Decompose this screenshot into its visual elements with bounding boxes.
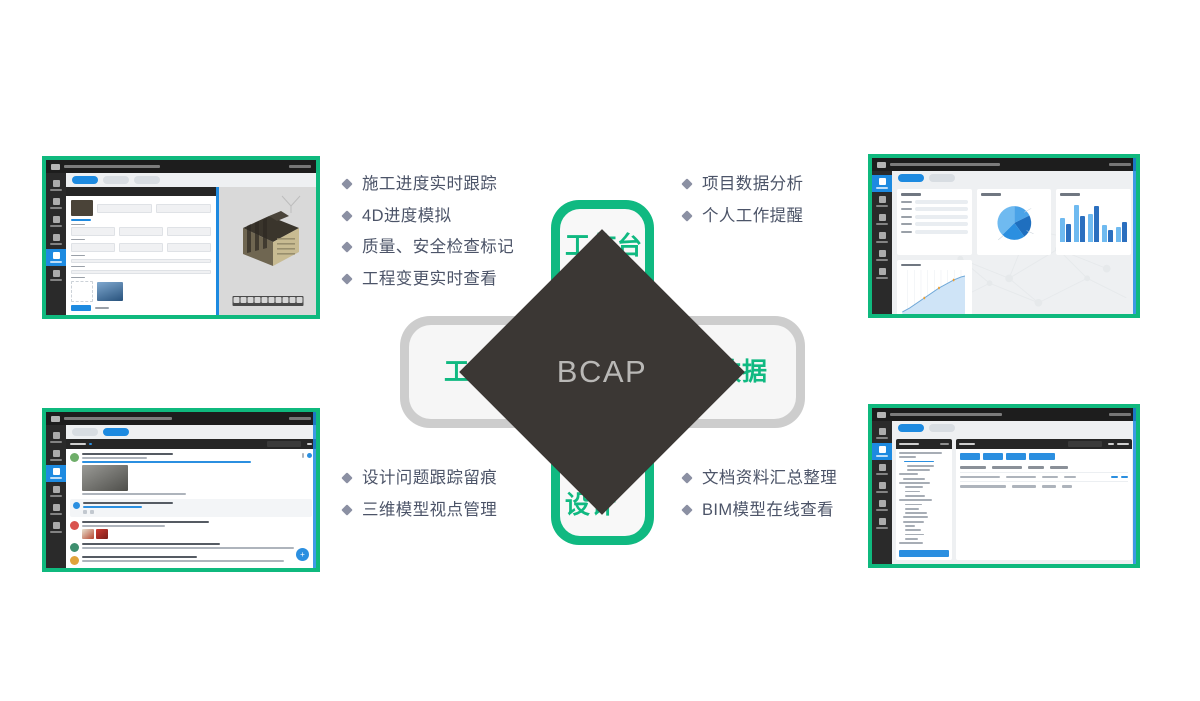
sidebar-item-label (50, 477, 62, 479)
tree-add-button[interactable] (940, 443, 949, 446)
sidebar-rail (872, 421, 892, 564)
measure-icon[interactable] (254, 297, 260, 303)
post-meta (82, 493, 186, 495)
tree-header (896, 439, 952, 449)
author-name (82, 521, 209, 523)
comment-icon[interactable] (90, 510, 94, 514)
app-window (872, 408, 1136, 564)
split-pane (66, 187, 316, 315)
breadcrumb (64, 165, 160, 168)
progress-track (915, 207, 968, 211)
attachment-label (71, 277, 85, 278)
area-chart (901, 270, 968, 314)
tree-node[interactable] (905, 529, 921, 531)
sidebar-item-0[interactable] (872, 425, 892, 442)
screenshot-data-dashboard[interactable] (868, 154, 1140, 318)
diamond-bullet-icon (341, 504, 352, 515)
app-logo-icon (877, 412, 886, 418)
breadcrumb (890, 413, 1002, 416)
document-icon (879, 446, 886, 453)
module-icon (879, 268, 886, 275)
column-a (1102, 225, 1107, 242)
field-label (71, 266, 85, 267)
sidebar-item-0[interactable] (46, 177, 66, 194)
diamond-bullet-icon (341, 242, 352, 253)
feed-title (70, 443, 86, 446)
list-item[interactable] (70, 556, 312, 565)
zoom-icon[interactable] (247, 297, 253, 303)
sidebar-item-label (876, 259, 888, 261)
tree-node[interactable] (903, 521, 924, 523)
tab-2[interactable] (929, 424, 955, 432)
app-logo-icon (51, 416, 60, 422)
sidebar-rail (46, 173, 66, 315)
module-icon (879, 232, 886, 239)
tab-2[interactable] (103, 176, 129, 184)
sidebar-item-2[interactable] (46, 213, 66, 230)
cell-owner (1064, 476, 1076, 479)
module-icon (879, 428, 886, 435)
sidebar-item-label (876, 277, 888, 279)
reply-text (83, 506, 142, 508)
progress-row (901, 222, 968, 226)
tree-node[interactable] (905, 525, 915, 527)
sidebar-item-0-active[interactable] (872, 175, 892, 192)
field-d[interactable] (71, 243, 115, 252)
module-icon (879, 250, 886, 257)
download-row-button[interactable] (1121, 476, 1128, 479)
progress-row (901, 207, 968, 211)
sidebar-item-label (876, 473, 888, 475)
tree-node-selected[interactable] (904, 461, 934, 463)
screenshot-document-management[interactable] (868, 404, 1140, 568)
orbit-icon[interactable] (233, 297, 239, 303)
sidebar-item-4[interactable] (872, 247, 892, 264)
sidebar-item-1[interactable] (46, 447, 66, 464)
dashboard-grid (892, 185, 1136, 314)
cell-size (1042, 485, 1056, 488)
column-chart (1060, 200, 1127, 242)
sidebar-item-label (876, 455, 888, 457)
center-label: BCAP (501, 271, 703, 473)
tree-title (899, 443, 919, 446)
vertical-scrollbar[interactable] (1133, 158, 1136, 314)
primary-tag-button[interactable] (71, 219, 91, 221)
column-b (1108, 230, 1113, 242)
list-item[interactable] (70, 453, 312, 495)
discussion-icon (53, 468, 60, 475)
progress-track (915, 230, 968, 234)
search-input[interactable] (267, 441, 301, 447)
hide-icon[interactable] (268, 297, 274, 303)
sidebar-item-label (50, 225, 62, 227)
sidebar-item-3[interactable] (46, 231, 66, 248)
search-icon[interactable] (1108, 443, 1114, 446)
tab-1[interactable] (898, 174, 924, 182)
post-text (82, 461, 251, 463)
column-chart-card (1056, 189, 1131, 255)
progress-track (915, 215, 968, 219)
upload-button[interactable] (960, 453, 980, 460)
tab-1[interactable] (72, 176, 98, 184)
sidebar-item-label (50, 459, 62, 461)
form-row-2 (71, 243, 211, 252)
tree-primary-button[interactable] (899, 550, 949, 557)
sidebar-item-label (876, 223, 888, 225)
attachment-row (71, 281, 211, 302)
sidebar-item-1[interactable] (872, 193, 892, 210)
avatar (73, 502, 80, 509)
field-f[interactable] (167, 243, 211, 252)
app-titlebar (872, 158, 1136, 171)
document-table (956, 463, 1132, 560)
viewer-toolbar[interactable] (232, 296, 303, 306)
app-logo-icon (877, 162, 886, 168)
user-menu[interactable] (289, 417, 311, 420)
cell-date (1012, 485, 1036, 488)
sidebar-item-label (876, 187, 888, 189)
sidebar-rail (46, 425, 66, 568)
column-a (1116, 227, 1121, 241)
tree-node[interactable] (899, 456, 916, 458)
preview-button[interactable] (1111, 476, 1118, 479)
attachment-thumb[interactable] (96, 529, 108, 539)
attachment-photo[interactable] (97, 282, 123, 301)
avatar (70, 556, 79, 565)
module-icon (53, 270, 60, 277)
progress-track (915, 200, 968, 204)
new-folder-button[interactable] (983, 453, 1003, 460)
filter-icon[interactable] (307, 443, 312, 446)
module-icon (53, 180, 60, 187)
submit-button[interactable] (71, 305, 91, 311)
cancel-button[interactable] (95, 307, 109, 310)
sidebar-item-label (876, 491, 888, 493)
sidebar-item-label (50, 441, 62, 443)
new-post-button[interactable]: + (296, 548, 309, 561)
description-textarea[interactable] (71, 259, 211, 264)
post-content (82, 556, 312, 565)
author-name (82, 453, 173, 455)
tree-node[interactable] (905, 534, 924, 536)
field-label (71, 224, 85, 225)
form-body (66, 196, 216, 315)
field-label (71, 239, 85, 240)
field-c[interactable] (167, 227, 211, 236)
module-icon (879, 482, 886, 489)
post-content (82, 521, 312, 539)
fullscreen-icon[interactable] (296, 297, 302, 303)
vertical-scrollbar[interactable] (313, 412, 316, 568)
isolate-icon[interactable] (275, 297, 281, 303)
like-icon[interactable] (83, 510, 87, 514)
module-icon (53, 522, 60, 529)
card-title (981, 193, 1001, 196)
column-header-size (1028, 466, 1044, 469)
bim-3d-model (229, 206, 307, 276)
sidebar-item-5[interactable] (46, 267, 66, 284)
sidebar-item-4[interactable] (46, 501, 66, 518)
download-button[interactable] (1006, 453, 1026, 460)
table-header-row (960, 463, 1128, 473)
progress-track (915, 222, 968, 226)
content-area (892, 421, 1136, 564)
table-header-bar (956, 439, 1132, 449)
reply-author (83, 502, 173, 504)
sidebar-item-label (876, 509, 888, 511)
tree-node[interactable] (903, 478, 925, 480)
bcap-cross-diagram: 工程 数据 工作台 设计 BCAP (400, 200, 805, 545)
app-window (46, 160, 316, 315)
dashboard-icon (879, 178, 886, 185)
row-label (901, 216, 912, 218)
form-header (66, 187, 216, 196)
module-icon (879, 214, 886, 221)
tab-1[interactable] (72, 428, 98, 436)
row-label (901, 201, 912, 203)
app-main (872, 421, 1136, 564)
feature-label: 项目数据分析 (702, 176, 803, 193)
section-icon[interactable] (261, 297, 267, 303)
app-main: + (46, 425, 316, 568)
list-item: 项目数据分析 (683, 176, 803, 193)
author-name (82, 556, 197, 558)
model-thumbnail (71, 200, 93, 216)
column-group (1074, 202, 1085, 242)
column-a (1088, 214, 1093, 242)
remark-textarea[interactable] (71, 270, 211, 275)
pan-icon[interactable] (240, 297, 246, 303)
batch-action-button[interactable] (1029, 453, 1055, 460)
tree-node[interactable] (905, 504, 922, 506)
tab-2[interactable] (929, 174, 955, 182)
timestamp (82, 525, 165, 527)
documents-pane (892, 435, 1136, 564)
search-input[interactable] (1068, 441, 1102, 447)
module-icon (879, 464, 886, 471)
avatar (70, 543, 79, 552)
column-a (1060, 218, 1065, 241)
user-menu[interactable] (1109, 413, 1131, 416)
module-icon (879, 500, 886, 507)
post-image[interactable] (82, 465, 128, 491)
sidebar-item-label (50, 207, 62, 209)
tree-node[interactable] (905, 508, 919, 510)
module-icon (879, 518, 886, 525)
advanced-filter-button[interactable] (1117, 443, 1129, 446)
column-b (1080, 216, 1085, 242)
tree-node[interactable] (907, 465, 934, 467)
sidebar-item-4[interactable] (872, 497, 892, 514)
sidebar-item-0[interactable] (46, 429, 66, 446)
column-header-date (992, 466, 1022, 469)
attachment-row[interactable] (82, 529, 312, 539)
avatar (70, 453, 79, 462)
tree-node[interactable] (899, 452, 942, 454)
sidebar-item-4-active[interactable] (46, 249, 66, 266)
sidebar-item-label (876, 205, 888, 207)
module-icon (53, 234, 60, 241)
sidebar-rail (872, 171, 892, 314)
module-icon (53, 504, 60, 511)
app-titlebar (872, 408, 1136, 421)
table-toolbar (956, 449, 1132, 463)
tab-row (66, 173, 316, 187)
settings-icon[interactable] (289, 297, 295, 303)
table-row[interactable] (960, 482, 1128, 491)
sidebar-item-5[interactable] (872, 515, 892, 532)
diamond-bullet-icon (341, 473, 352, 484)
tree-node[interactable] (899, 542, 923, 544)
tree-body (896, 449, 952, 547)
tab-1[interactable] (898, 424, 924, 432)
tree-node[interactable] (899, 482, 930, 484)
progress-row (901, 230, 968, 234)
form-pane (66, 187, 216, 315)
area-chart-card (897, 260, 972, 315)
avatar (70, 521, 79, 530)
screenshot-design-discussion-feed[interactable]: + (42, 408, 320, 572)
list-item[interactable] (70, 543, 312, 552)
list-item[interactable] (70, 521, 312, 539)
sidebar-item-3[interactable] (872, 229, 892, 246)
diamond-bullet-icon (341, 179, 352, 190)
card-title (901, 264, 921, 267)
tree-node[interactable] (905, 512, 927, 514)
diamond-bullet-icon (341, 210, 352, 221)
tree-node[interactable] (905, 491, 920, 493)
field-e[interactable] (119, 243, 163, 252)
tab-2[interactable] (103, 428, 129, 436)
sidebar-item-2[interactable] (872, 461, 892, 478)
list-item: 施工进度实时跟踪 (343, 176, 514, 193)
cell-date (1006, 476, 1036, 479)
card-title (901, 193, 921, 196)
column-b (1066, 224, 1071, 242)
tree-node[interactable] (899, 473, 918, 475)
user-menu[interactable] (289, 165, 311, 168)
post-content (82, 453, 299, 495)
tab-row (66, 425, 316, 439)
column-group (1102, 202, 1113, 242)
attachment-thumb[interactable] (82, 529, 94, 539)
card-title (1060, 193, 1080, 196)
field-a[interactable] (71, 227, 115, 236)
model-viewer-pane[interactable] (216, 187, 316, 315)
upload-placeholder[interactable] (71, 281, 93, 302)
app-main (872, 171, 1136, 314)
content-area (66, 173, 316, 315)
tab-row (892, 421, 1136, 435)
folder-tree (896, 439, 952, 560)
infographic-canvas: 施工进度实时跟踪 4D进度模拟 质量、安全检查标记 工程变更实时查看 项目数据分… (0, 0, 1200, 701)
tree-node[interactable] (899, 499, 932, 501)
tree-node[interactable] (905, 486, 923, 488)
app-titlebar (46, 160, 316, 173)
app-window: + (46, 412, 316, 568)
progress-bars-card (897, 189, 972, 255)
sidebar-item-label (50, 531, 62, 533)
sidebar-item-label (876, 241, 888, 243)
user-menu[interactable] (1109, 163, 1131, 166)
post-text (82, 560, 284, 562)
progress-row (901, 200, 968, 204)
tab-row (892, 171, 1136, 185)
timestamp (82, 457, 147, 459)
module-icon (53, 198, 60, 205)
reply-item[interactable] (70, 499, 312, 517)
sidebar-item-label (50, 279, 62, 281)
sidebar-item-label (50, 513, 62, 515)
tab-3[interactable] (134, 176, 160, 184)
sidebar-item-2-active[interactable] (46, 465, 66, 482)
vertical-scrollbar[interactable] (1133, 408, 1136, 564)
breadcrumb (64, 417, 172, 420)
feature-label: 施工进度实时跟踪 (362, 176, 497, 193)
tree-node[interactable] (907, 469, 930, 471)
app-titlebar (46, 412, 316, 425)
sidebar-item-5[interactable] (872, 265, 892, 282)
reaction-row[interactable] (83, 510, 309, 514)
tree-node[interactable] (905, 495, 925, 497)
breadcrumb (890, 163, 1000, 166)
tree-node[interactable] (903, 516, 928, 518)
cell-owner (1062, 485, 1072, 488)
sidebar-item-label (876, 437, 888, 439)
module-icon (53, 450, 60, 457)
column-b (1094, 206, 1099, 241)
column-a (1074, 205, 1079, 242)
cell-name (960, 476, 1000, 479)
author-name (82, 543, 220, 545)
table-row[interactable] (960, 473, 1128, 483)
sidebar-item-5[interactable] (46, 519, 66, 536)
sidebar-item-label (50, 189, 62, 191)
tree-node[interactable] (905, 538, 918, 540)
progress-row (901, 215, 968, 219)
sidebar-item-label (50, 261, 62, 263)
name-field[interactable] (97, 204, 152, 213)
module-icon (53, 252, 60, 259)
form-actions (71, 305, 211, 311)
module-icon (53, 432, 60, 439)
more-icon[interactable] (302, 453, 304, 458)
field-label (71, 255, 85, 256)
feed-body (66, 449, 316, 568)
column-header-name (960, 466, 986, 469)
row-actions[interactable] (1111, 476, 1128, 479)
diamond-bullet-icon (341, 273, 352, 284)
sidebar-item-label (876, 527, 888, 529)
sidebar-item-1-active[interactable] (872, 443, 892, 460)
sidebar-item-3[interactable] (46, 483, 66, 500)
markup-icon[interactable] (282, 297, 288, 303)
sidebar-item-3[interactable] (872, 479, 892, 496)
column-b (1122, 222, 1127, 242)
form-row-1 (71, 227, 211, 236)
post-text (82, 547, 294, 549)
feed-header (66, 439, 316, 449)
row-label (901, 223, 912, 225)
column-group (1060, 202, 1071, 242)
type-select[interactable] (156, 204, 211, 213)
reply-content (83, 502, 309, 514)
module-icon (879, 196, 886, 203)
sidebar-item-2[interactable] (872, 211, 892, 228)
screenshot-engineering-form-and-3d-viewer[interactable] (42, 156, 320, 319)
field-b[interactable] (119, 227, 163, 236)
sidebar-item-1[interactable] (46, 195, 66, 212)
